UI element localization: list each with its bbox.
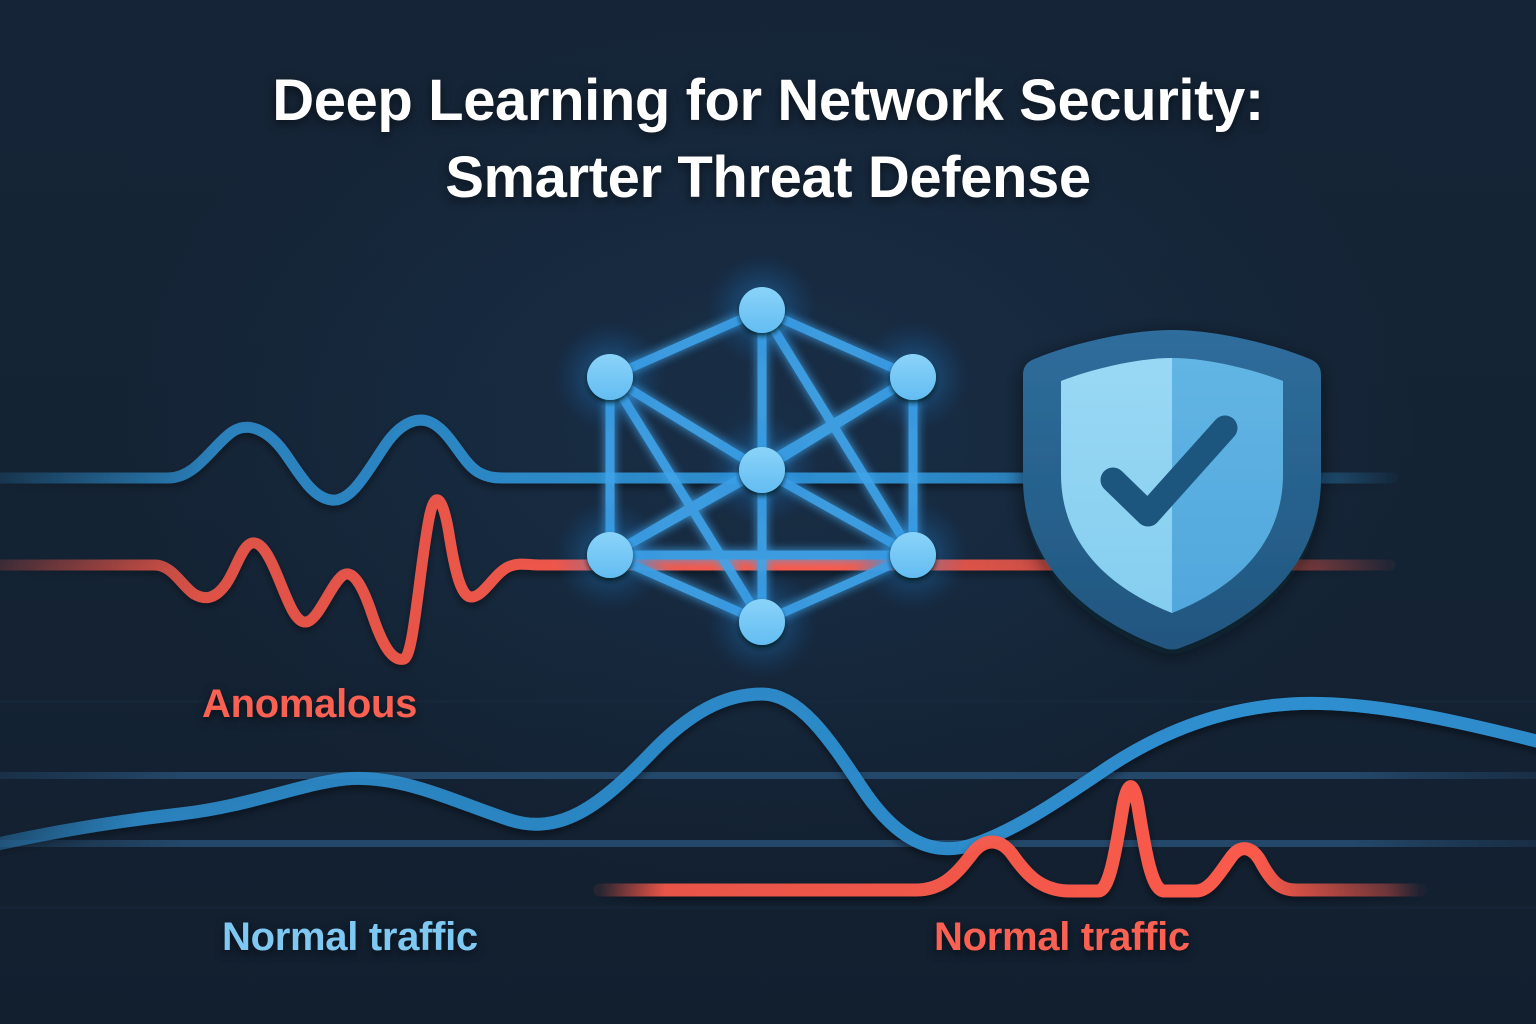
label-anomalous: Anomalous bbox=[202, 682, 417, 727]
page-title: Deep Learning for Network Security: Smar… bbox=[0, 62, 1536, 216]
label-normal-traffic-left: Normal traffic bbox=[222, 915, 478, 960]
title-line-2: Smarter Threat Defense bbox=[0, 139, 1536, 216]
title-line-1: Deep Learning for Network Security: bbox=[0, 62, 1536, 139]
infographic-canvas: Deep Learning for Network Security: Smar… bbox=[0, 0, 1536, 1024]
shield-shape bbox=[1023, 330, 1321, 650]
label-normal-traffic-right: Normal traffic bbox=[934, 915, 1190, 960]
